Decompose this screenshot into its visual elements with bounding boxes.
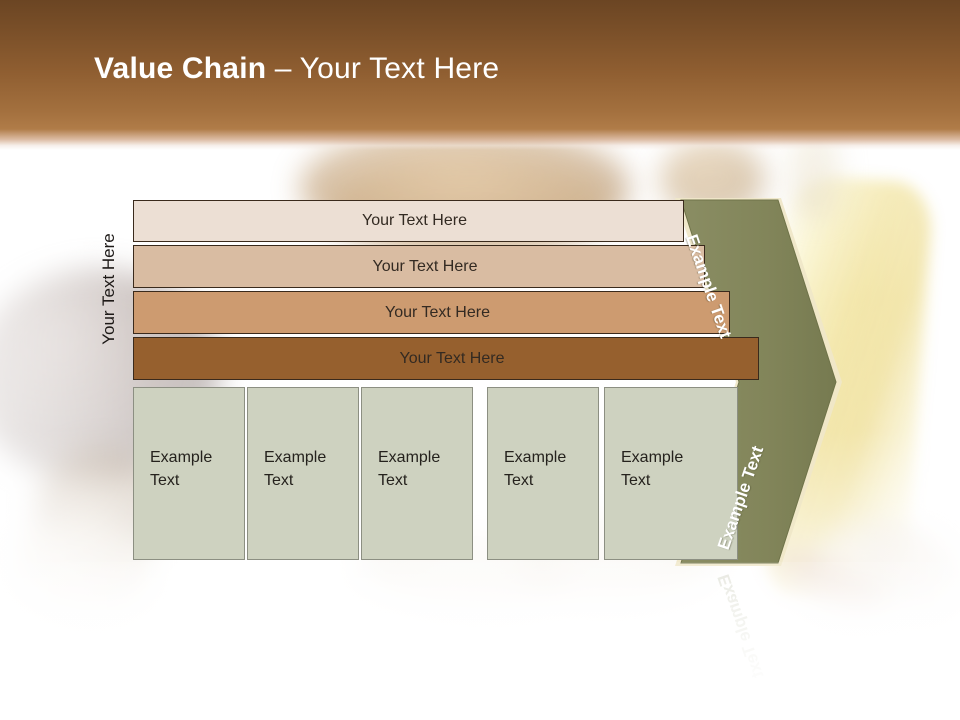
support-cell-2-label: Example Text xyxy=(264,446,326,492)
y-axis-label: Your Text Here xyxy=(96,200,122,378)
support-cell-3[interactable]: Example Text xyxy=(361,387,473,560)
chain-bar-2-label: Your Text Here xyxy=(373,258,478,276)
chain-bar-3-label: Your Text Here xyxy=(385,304,490,322)
support-cell-1-label: Example Text xyxy=(150,446,212,492)
chain-bar-4[interactable]: Your Text Here xyxy=(133,337,759,380)
support-cell-3-label: Example Text xyxy=(378,446,440,492)
reflection-fade xyxy=(0,562,960,720)
chain-bar-3[interactable]: Your Text Here xyxy=(133,291,730,334)
chain-bar-1-label: Your Text Here xyxy=(362,212,467,230)
support-cell-1[interactable]: Example Text xyxy=(133,387,245,560)
support-cell-4[interactable]: Example Text xyxy=(487,387,599,560)
support-cell-2[interactable]: Example Text xyxy=(247,387,359,560)
support-cell-4-label: Example Text xyxy=(504,446,566,492)
y-axis-label-text: Your Text Here xyxy=(99,233,119,345)
chain-bar-2[interactable]: Your Text Here xyxy=(133,245,705,288)
chain-bar-1[interactable]: Your Text Here xyxy=(133,200,684,242)
chain-bar-4-label: Your Text Here xyxy=(400,350,505,368)
slide-canvas: Value Chain – Your Text Here Your Text H… xyxy=(0,0,960,720)
support-cell-5-label: Example Text xyxy=(621,446,683,492)
